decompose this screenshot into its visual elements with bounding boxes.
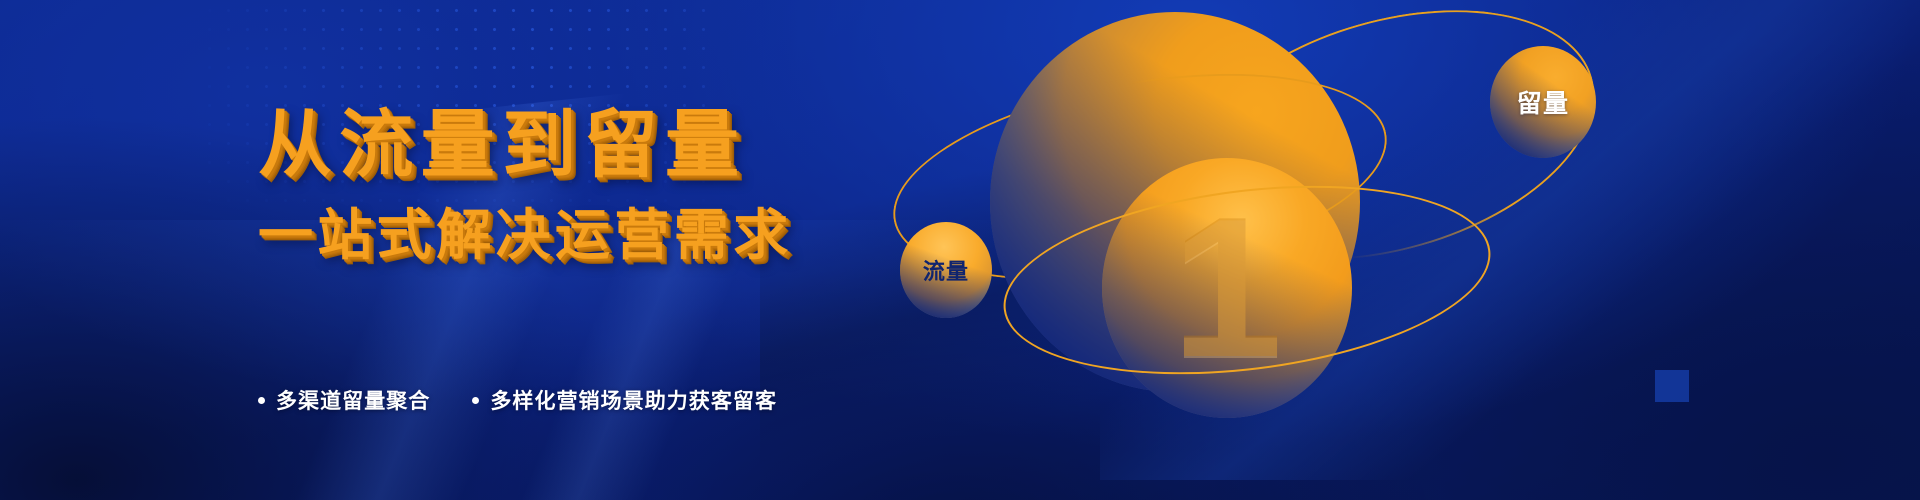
list-item: 多渠道留量聚合 <box>258 385 430 415</box>
decorative-square <box>1655 370 1689 402</box>
headline-block: 从流量到留量 一站式解决运营需求 <box>258 108 898 263</box>
promo-banner: 从流量到留量 一站式解决运营需求 多渠道留量聚合 多样化营销场景助力获客留客 1… <box>0 0 1920 500</box>
node-label-retention: 留量 <box>1517 84 1570 120</box>
feature-bullet-list: 多渠道留量聚合 多样化营销场景助力获客留客 <box>258 385 777 415</box>
node-sphere-traffic: 流量 <box>900 222 992 318</box>
sphere-illustration: 1 流量 留量 <box>880 0 1920 500</box>
bullet-label: 多渠道留量聚合 <box>276 385 430 415</box>
node-label-traffic: 流量 <box>923 254 969 286</box>
page-title: 从流量到留量 <box>258 108 898 182</box>
bullet-dot-icon <box>472 397 479 404</box>
list-item: 多样化营销场景助力获客留客 <box>472 385 777 415</box>
page-subtitle: 一站式解决运营需求 <box>258 208 898 263</box>
bullet-dot-icon <box>258 397 265 404</box>
bullet-label: 多样化营销场景助力获客留客 <box>490 385 777 415</box>
node-sphere-retention: 留量 <box>1490 46 1596 158</box>
